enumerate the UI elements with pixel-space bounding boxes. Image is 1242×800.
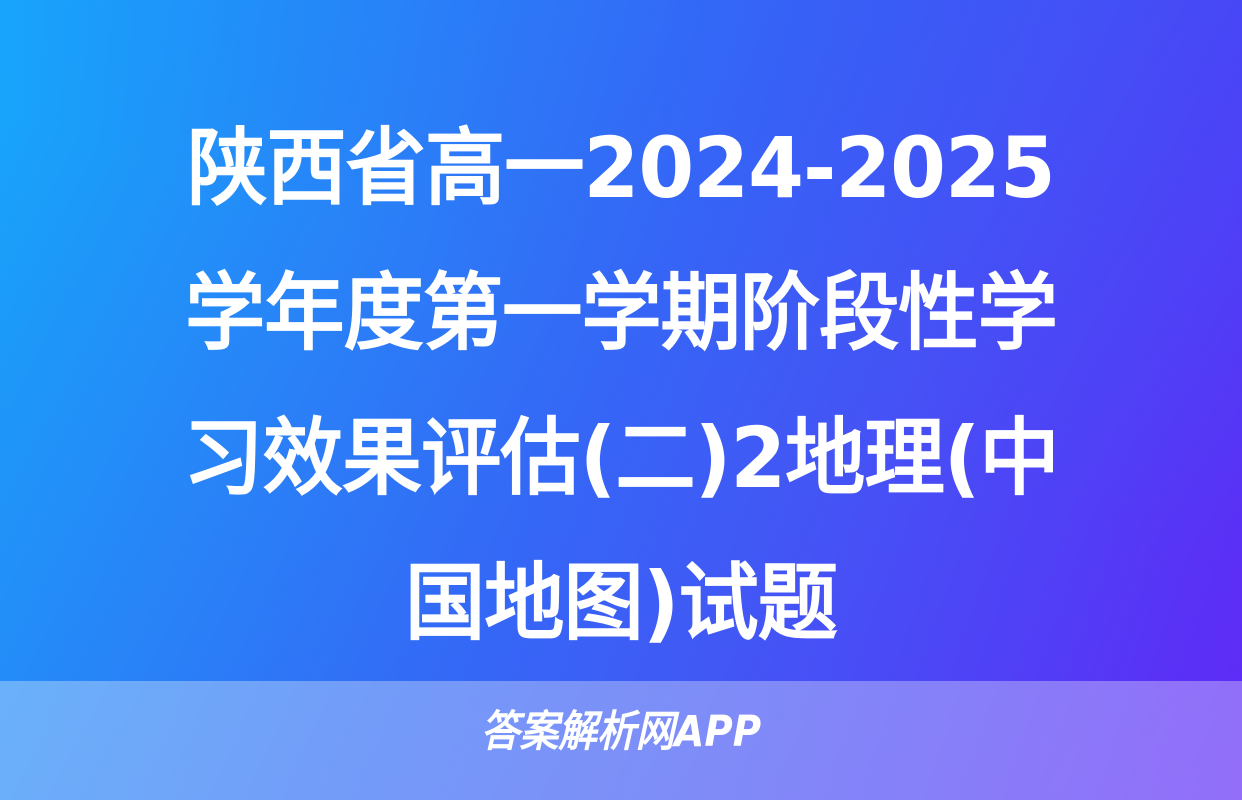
- title-line-4: 国地图)试题: [41, 531, 1200, 676]
- watermark-brand: 答案解析网APP: [62, 706, 1180, 758]
- title-card: 陕西省高一2024-2025 学年度第一学期阶段性学 习效果评估(二)2地理(中…: [0, 0, 1242, 800]
- title-line-1: 陕西省高一2024-2025: [41, 96, 1200, 241]
- page-title: 陕西省高一2024-2025 学年度第一学期阶段性学 习效果评估(二)2地理(中…: [0, 96, 1242, 676]
- title-line-2: 学年度第一学期阶段性学: [41, 241, 1200, 386]
- title-line-3: 习效果评估(二)2地理(中: [41, 386, 1200, 531]
